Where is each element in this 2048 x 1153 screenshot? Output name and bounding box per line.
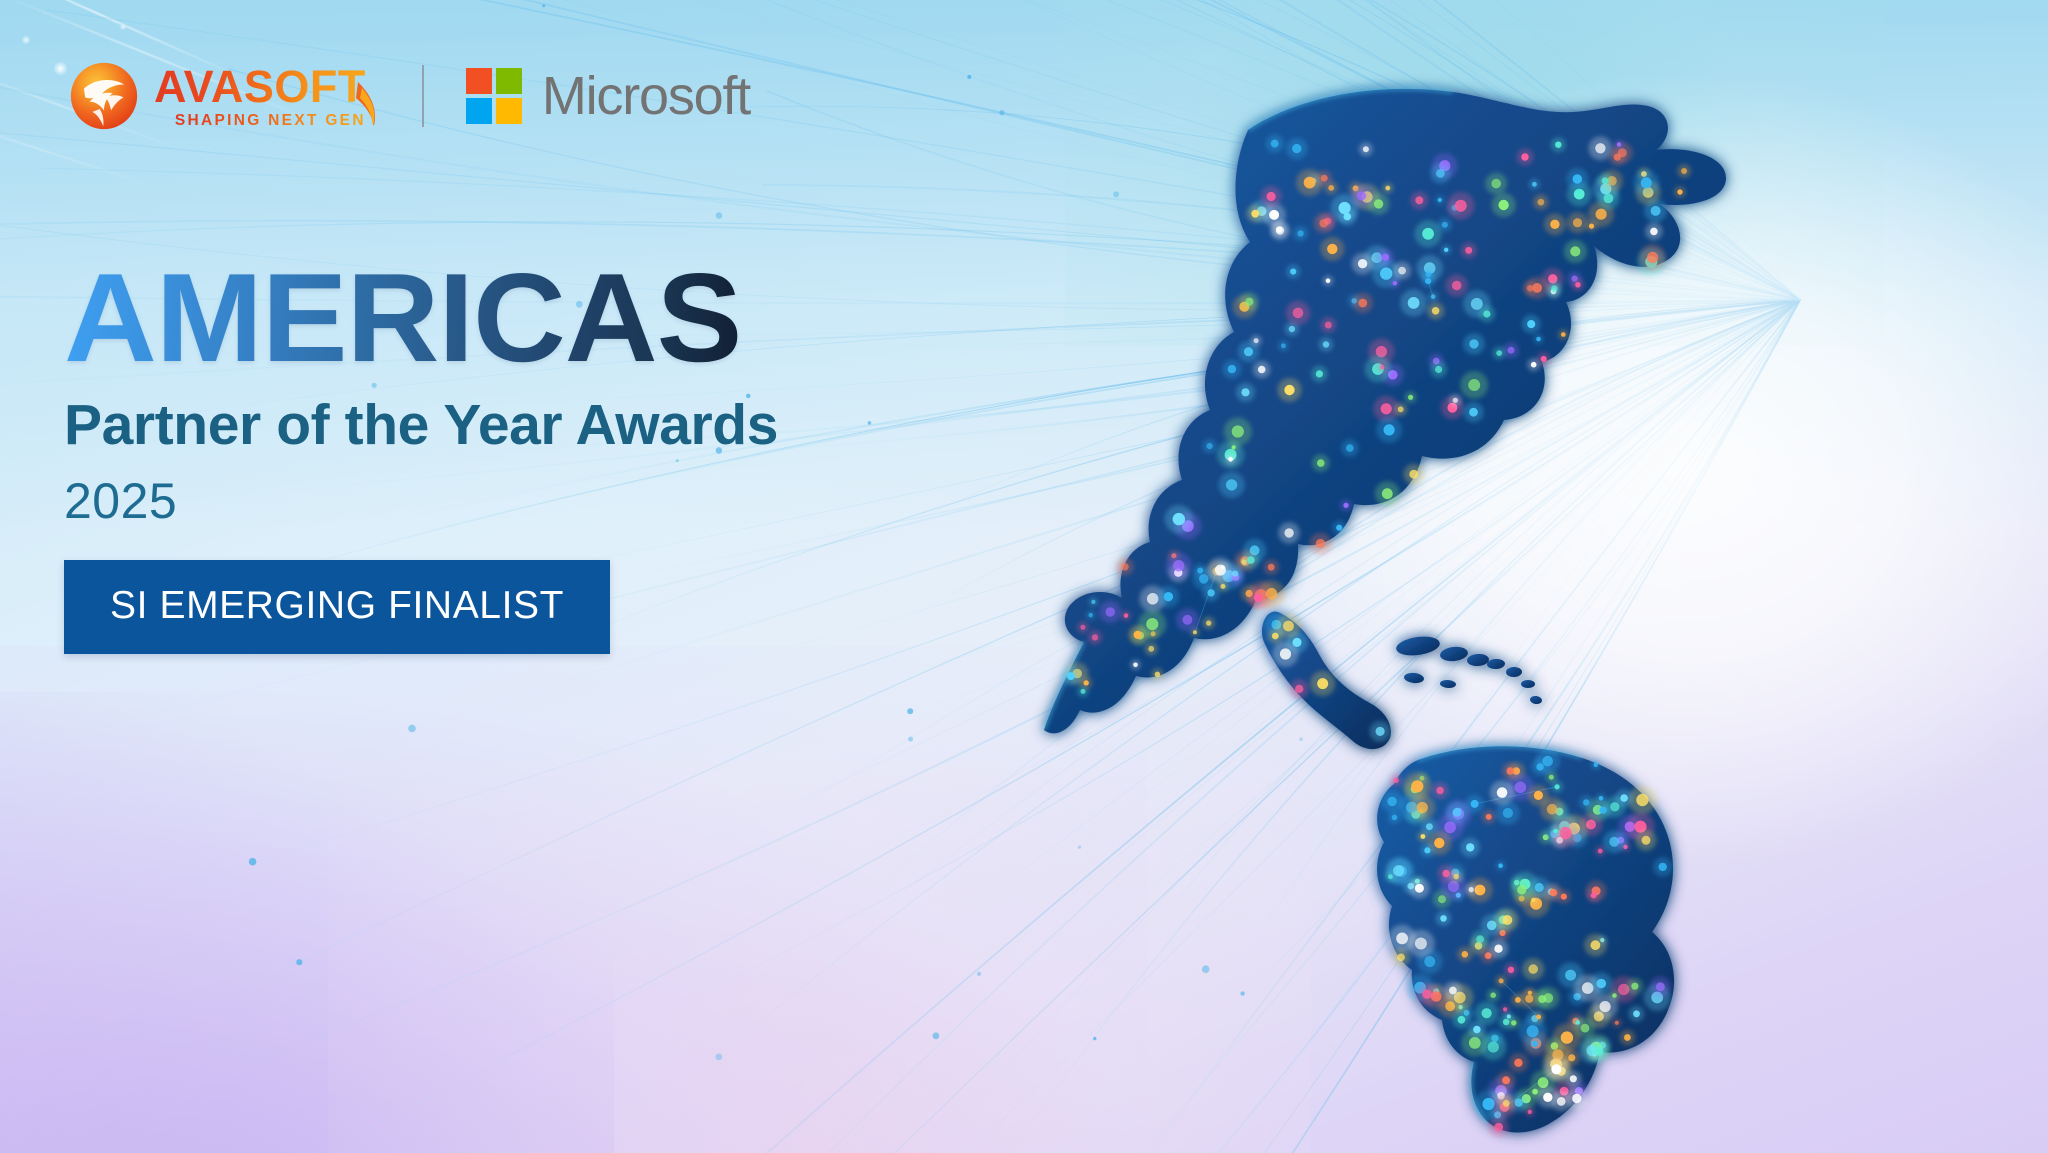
page-subtitle: Partner of the Year Awards	[64, 397, 778, 454]
vertical-divider-icon	[422, 65, 424, 127]
avasoft-flame-emblem-icon	[68, 60, 140, 132]
avasoft-logo[interactable]: AVASOFT SHAPING NEXT GEN	[68, 60, 366, 132]
award-year: 2025	[64, 476, 778, 526]
status-badge: SI EMERGING FINALIST	[64, 560, 610, 654]
microsoft-wordmark: Microsoft	[542, 65, 750, 127]
page-title: AMERICAS	[64, 258, 792, 379]
blue-square	[466, 98, 492, 124]
headline-block: AMERICAS Partner of the Year Awards 2025…	[64, 258, 778, 654]
green-square	[496, 68, 522, 94]
status-badge-label: SI EMERGING FINALIST	[110, 584, 564, 628]
banner-canvas: AVASOFT SHAPING NEXT GEN Microsoft AMERI…	[0, 0, 2048, 1153]
logo-row: AVASOFT SHAPING NEXT GEN Microsoft	[68, 60, 750, 132]
yellow-square	[496, 98, 522, 124]
red-square	[466, 68, 492, 94]
microsoft-logo[interactable]: Microsoft	[466, 65, 750, 127]
avasoft-tagline: SHAPING NEXT GEN	[175, 113, 366, 129]
avasoft-wordmark: AVASOFT	[154, 64, 366, 109]
microsoft-four-square-icon	[466, 68, 522, 124]
